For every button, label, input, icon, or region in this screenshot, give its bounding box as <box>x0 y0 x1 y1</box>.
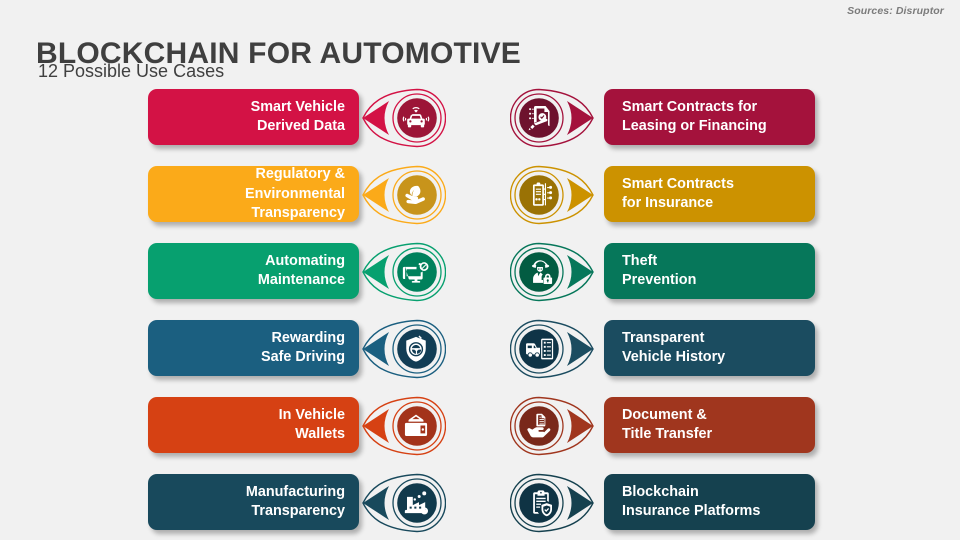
use-case-label: Smart Contracts for Insurance <box>604 175 815 213</box>
pointer-badge <box>510 472 596 534</box>
use-case-row[interactable]: Transparent Vehicle History <box>0 320 960 382</box>
use-case-bar[interactable]: Theft Prevention <box>604 243 815 299</box>
use-case-bar[interactable]: Smart Contracts for Insurance <box>604 166 815 222</box>
use-case-row[interactable]: Blockchain Insurance Platforms <box>0 474 960 536</box>
use-case-row[interactable]: Smart Contracts for Insurance <box>0 166 960 228</box>
use-case-label: Blockchain Insurance Platforms <box>604 483 815 521</box>
use-case-label: Transparent Vehicle History <box>604 329 815 367</box>
use-case-bar[interactable]: Transparent Vehicle History <box>604 320 815 376</box>
use-case-row[interactable]: Document & Title Transfer <box>0 397 960 459</box>
use-case-bar[interactable]: Document & Title Transfer <box>604 397 815 453</box>
pointer-badge <box>510 395 596 457</box>
pointer-badge <box>510 318 596 380</box>
use-case-label: Smart Contracts for Leasing or Financing <box>604 98 815 136</box>
use-case-bar[interactable]: Blockchain Insurance Platforms <box>604 474 815 530</box>
pointer-badge <box>510 164 596 226</box>
use-case-label: Theft Prevention <box>604 252 815 290</box>
sources-credit: Sources: Disruptor <box>847 5 944 17</box>
use-case-label: Document & Title Transfer <box>604 406 815 444</box>
slide-canvas: Sources: Disruptor BLOCKCHAIN FOR AUTOMO… <box>0 0 960 540</box>
pointer-badge <box>510 241 596 303</box>
use-case-bar[interactable]: Smart Contracts for Leasing or Financing <box>604 89 815 145</box>
pointer-badge <box>510 87 596 149</box>
use-case-row[interactable]: Theft Prevention <box>0 243 960 305</box>
page-subtitle: 12 Possible Use Cases <box>38 61 224 82</box>
use-case-row[interactable]: Smart Contracts for Leasing or Financing <box>0 89 960 151</box>
